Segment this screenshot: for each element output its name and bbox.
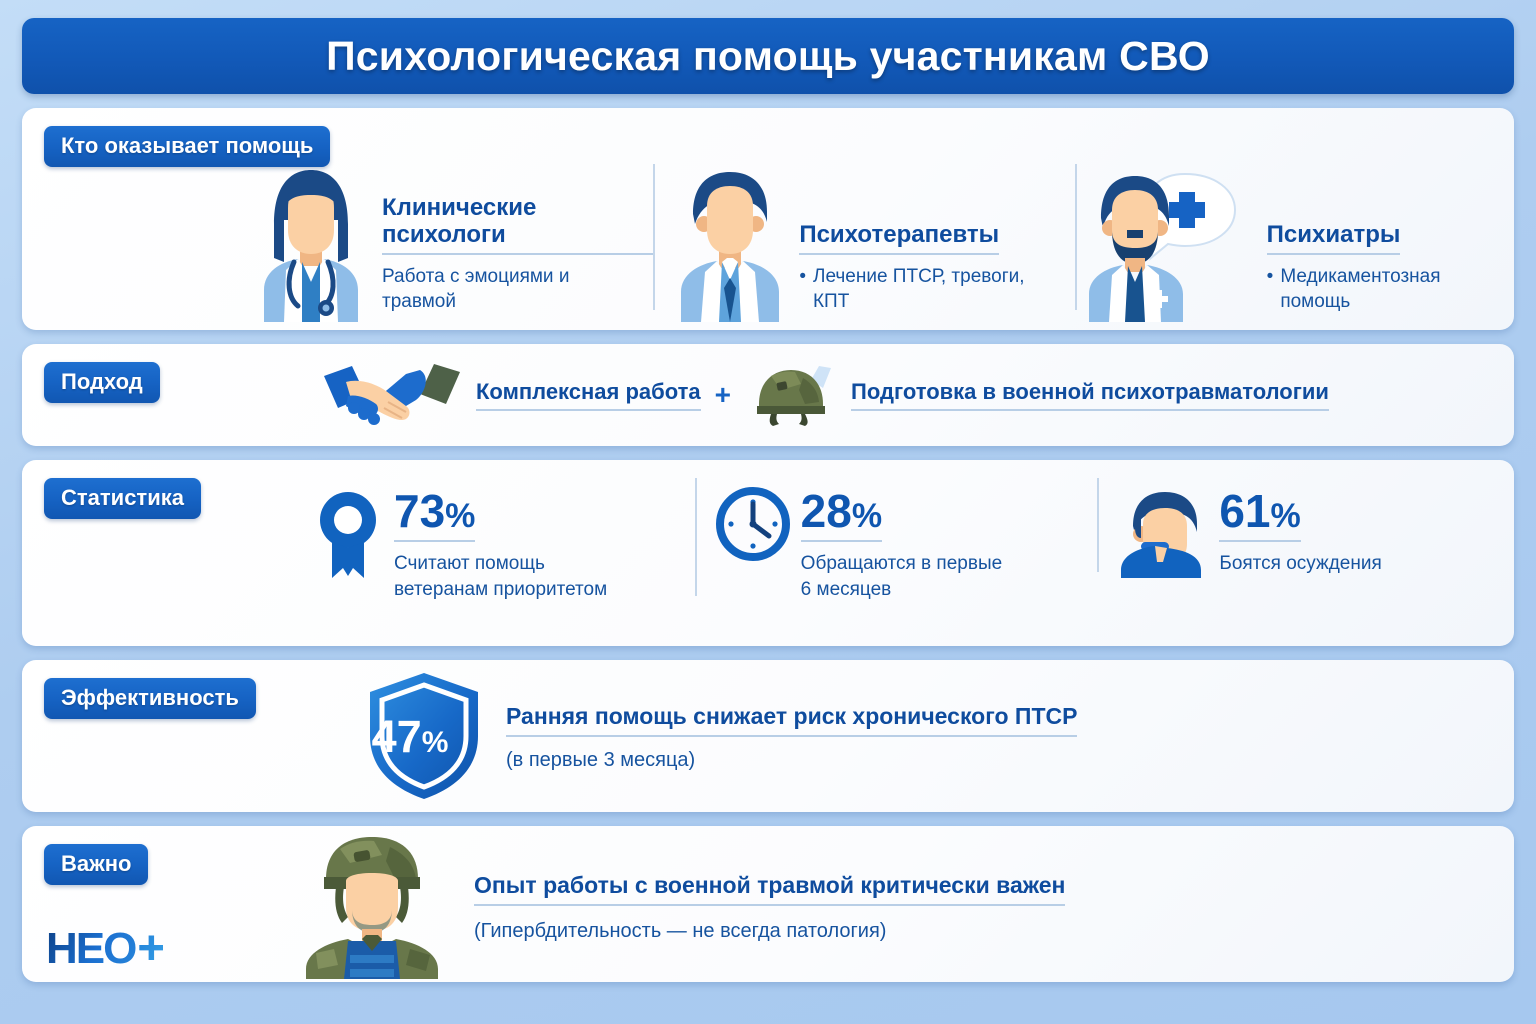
section-effectiveness: Эффективность 47%	[22, 660, 1514, 812]
military-helmet-icon	[745, 362, 837, 428]
bearded-psychiatrist-icon	[1089, 162, 1261, 322]
male-psychotherapist-icon	[667, 162, 793, 322]
effectiveness-title: Ранняя помощь снижает риск хронического …	[506, 703, 1077, 737]
badge-statistics: Статистика	[44, 478, 201, 519]
section-important: Важно	[22, 826, 1514, 982]
approach-left-label: Комплексная работа	[476, 379, 701, 411]
infographic-page: Психологическая помощь участникам СВО Кт…	[0, 0, 1536, 1024]
provider-desc-text: Лечение ПТСР, тревоги, КПТ	[813, 264, 1029, 314]
important-text: Опыт работы с военной травмой критически…	[474, 866, 1065, 943]
page-title: Психологическая помощь участникам СВО	[326, 33, 1210, 80]
stat-value: 73%	[394, 488, 475, 542]
effectiveness-text: Ранняя помощь снижает риск хронического …	[506, 701, 1077, 772]
badge-approach: Подход	[44, 362, 160, 403]
stat-value: 28%	[801, 488, 882, 542]
approach-right-label: Подготовка в военной психотравматологии	[851, 379, 1329, 411]
clock-icon	[715, 486, 791, 562]
provider-desc: • Медикаментозная помощь	[1267, 264, 1496, 314]
award-ribbon-icon	[312, 486, 384, 582]
provider-text: Психиатры • Медикаментозная помощь	[1267, 222, 1496, 322]
stat-value: 61%	[1219, 488, 1300, 542]
shield-value: 47	[372, 711, 422, 762]
important-subtitle: (Гипербдительность — не всегда патология…	[474, 920, 1065, 943]
provider-title: Психотерапевты	[799, 222, 999, 255]
provider-psychiatrists: Психиатры • Медикаментозная помощь	[1075, 152, 1496, 322]
soldier-icon	[292, 829, 452, 979]
stat-first-six-months: 28% Обращаются в первые 6 месяцев	[695, 472, 1098, 602]
provider-title: Психиатры	[1267, 222, 1401, 255]
section-approach: Подход	[22, 344, 1514, 446]
provider-text: Клинические психологи Работа с эмоциями …	[382, 195, 653, 322]
header-bar: Психологическая помощь участникам СВО	[22, 18, 1514, 94]
badge-important: Важно	[44, 844, 148, 885]
section-statistics: Статистика 73% Считают помощь вете	[22, 460, 1514, 646]
stat-number: 73	[394, 485, 445, 537]
approach-plus-sign: +	[715, 379, 731, 411]
provider-psychotherapists: Психотерапевты • Лечение ПТСР, тревоги, …	[653, 152, 1074, 322]
person-headset-icon	[1117, 486, 1209, 578]
stat-text: 61% Боятся осуждения	[1219, 486, 1381, 577]
provider-text: Психотерапевты • Лечение ПТСР, тревоги, …	[799, 222, 1029, 322]
providers-row: Клинические психологи Работа с эмоциями …	[232, 152, 1496, 322]
effectiveness-row: 47% Ранняя помощь снижает риск хроническ…	[362, 660, 1496, 812]
shield-unit: %	[422, 726, 449, 759]
provider-desc-text: Медикаментозная помощь	[1280, 264, 1496, 314]
bullet-icon: •	[1267, 264, 1274, 314]
logo-text: НЕО	[46, 924, 135, 974]
effectiveness-subtitle: (в первые 3 месяца)	[506, 749, 1077, 772]
stat-unit: %	[852, 497, 882, 535]
statistics-row: 73% Считают помощь ветеранам приоритетом	[292, 472, 1500, 636]
provider-desc: • Лечение ПТСР, тревоги, КПТ	[799, 264, 1029, 314]
badge-providers: Кто оказывает помощь	[44, 126, 330, 167]
section-providers: Кто оказывает помощь	[22, 108, 1514, 330]
stat-desc: Обращаются в первые 6 месяцев	[801, 551, 1016, 602]
stat-number: 28	[801, 485, 852, 537]
stat-text: 73% Считают помощь ветеранам приоритетом	[394, 486, 609, 602]
stat-text: 28% Обращаются в первые 6 месяцев	[801, 486, 1016, 602]
stat-fear-of-judgement: 61% Боятся осуждения	[1097, 472, 1500, 578]
logo-plus-icon: +	[137, 921, 163, 976]
stat-unit: %	[1271, 497, 1301, 535]
handshake-icon	[322, 362, 462, 428]
approach-row: Комплексная работа + Подготовка в военно…	[322, 344, 1496, 446]
provider-title: Клинические психологи	[382, 195, 653, 255]
badge-effectiveness: Эффективность	[44, 678, 256, 719]
provider-desc: Работа с эмоциями и травмой	[382, 264, 612, 314]
important-row: Опыт работы с военной травмой критически…	[292, 826, 1496, 982]
provider-clinical-psychologists: Клинические психологи Работа с эмоциями …	[232, 152, 653, 322]
brand-logo: НЕО+	[46, 921, 163, 976]
important-title: Опыт работы с военной травмой критически…	[474, 872, 1065, 906]
stat-desc: Считают помощь ветеранам приоритетом	[394, 551, 609, 602]
stat-unit: %	[445, 497, 475, 535]
stat-number: 61	[1219, 485, 1270, 537]
stat-priority: 73% Считают помощь ветеранам приоритетом	[292, 472, 695, 602]
female-psychologist-icon	[246, 162, 376, 322]
stat-desc: Боятся осуждения	[1219, 551, 1381, 577]
shield-icon: 47%	[362, 670, 486, 802]
bullet-icon: •	[799, 264, 806, 314]
